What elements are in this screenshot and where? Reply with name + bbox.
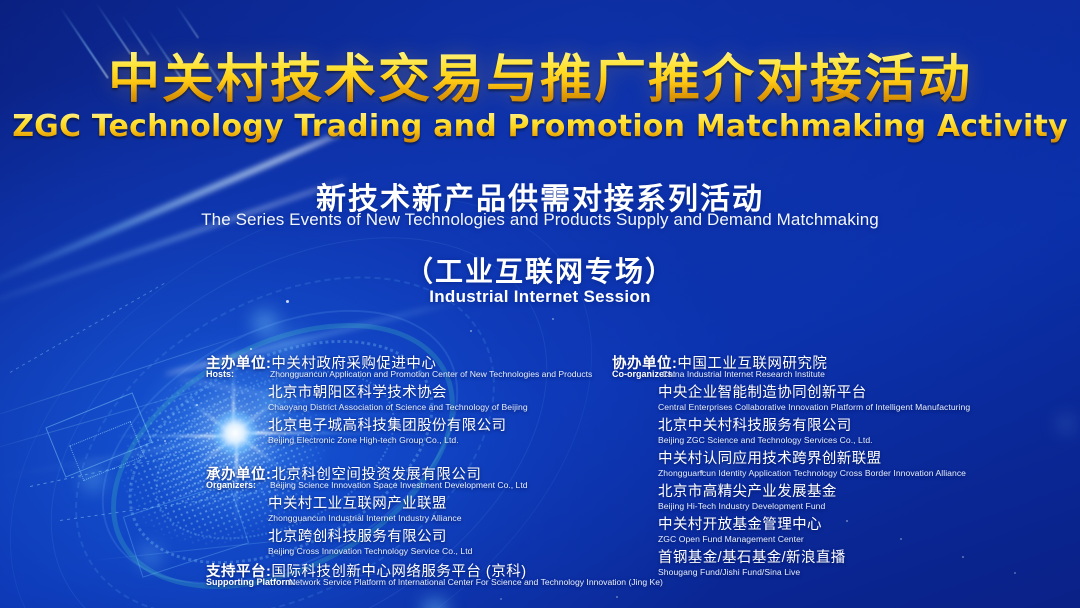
hosts-entry-2-cn: 北京电子城高科技集团股份有限公司 xyxy=(268,414,668,435)
credit-entry: 北京中关村科技服务有限公司 Beijing ZGC Science and Te… xyxy=(658,414,1078,445)
subtitle-en: The Series Events of New Technologies an… xyxy=(0,210,1080,230)
hosts-label-en: Hosts: xyxy=(206,369,234,379)
organizers-entry-1-en: Zhongguancun Industrial Internet Industr… xyxy=(268,513,668,523)
session-title-en: Industrial Internet Session xyxy=(0,287,1080,307)
hosts-entry-0-en: Zhongguancun Application and Promotion C… xyxy=(270,369,592,379)
hosts-entry-1-en: Chaoyang District Association of Science… xyxy=(268,402,668,412)
meteor-streak-icon xyxy=(175,4,199,38)
hosts-entry-2-en: Beijing Electronic Zone High-tech Group … xyxy=(268,435,668,445)
sparkle-dot xyxy=(552,318,554,320)
credits-group-hosts: 主办单位:中关村政府采购促进中心 Hosts: Zhongguancun App… xyxy=(206,352,606,448)
credits-group-supporting-platform: 支持平台:国际科技创新中心网络服务平台 (京科) Supporting Plat… xyxy=(206,560,606,600)
hosts-entry-1-cn: 北京市朝阳区科学技术协会 xyxy=(268,381,668,402)
organizers-entry-2-cn: 北京跨创科技服务有限公司 xyxy=(268,525,668,546)
title-block: 中关村技术交易与推广推介对接活动 ZGC Technology Trading … xyxy=(0,52,1080,144)
organizers-entry-2-en: Beijing Cross Innovation Technology Serv… xyxy=(268,546,668,556)
co-organizers-entry-1-en: Central Enterprises Collaborative Innova… xyxy=(658,402,1078,412)
credit-entry: 中央企业智能制造协同创新平台 Central Enterprises Colla… xyxy=(658,381,1078,412)
co-organizers-entry-0-en: China Industrial Internet Research Insti… xyxy=(662,369,825,379)
credit-entry: 北京市高精尖产业发展基金 Beijing Hi-Tech Industry De… xyxy=(658,480,1078,511)
supporting-platform-entry-0-en: Network Service Platform of Internationa… xyxy=(289,577,663,587)
organizers-entry-0-en: Beijing Science Innovation Space Investm… xyxy=(270,480,528,490)
credits-block: 主办单位:中关村政府采购促进中心 Hosts: Zhongguancun App… xyxy=(0,352,1080,608)
organizers-entry-list: 中关村工业互联网产业联盟 Zhongguancun Industrial Int… xyxy=(206,491,668,558)
co-organizers-entry-5-cn: 中关村开放基金管理中心 xyxy=(658,513,1078,534)
co-organizers-entry-2-en: Beijing ZGC Science and Technology Servi… xyxy=(658,435,1078,445)
credit-entry: 中关村工业互联网产业联盟 Zhongguancun Industrial Int… xyxy=(268,492,668,523)
organizers-entry-1-cn: 中关村工业互联网产业联盟 xyxy=(268,492,668,513)
glow-spot xyxy=(254,312,276,334)
credit-entry: 中关村开放基金管理中心 ZGC Open Fund Management Cen… xyxy=(658,513,1078,544)
co-organizers-entry-5-en: ZGC Open Fund Management Center xyxy=(658,534,1078,544)
co-organizers-entry-3-en: Zhongguancun Identity Application Techno… xyxy=(658,468,1078,478)
hosts-entry-list: 北京市朝阳区科学技术协会 Chaoyang District Associati… xyxy=(206,380,668,447)
co-organizers-entry-2-cn: 北京中关村科技服务有限公司 xyxy=(658,414,1078,435)
supporting-platform-label-en: Supporting Platform: xyxy=(206,577,296,587)
sparkle-dot xyxy=(250,348,252,350)
co-organizers-entry-6-cn: 首钢基金/基石基金/新浪直播 xyxy=(658,546,1078,567)
credit-entry: 首钢基金/基石基金/新浪直播 Shougang Fund/Jishi Fund/… xyxy=(658,546,1078,577)
sparkle-dot xyxy=(470,330,472,332)
page-title-cn: 中关村技术交易与推广推介对接活动 xyxy=(0,52,1080,108)
co-organizers-entry-4-en: Beijing Hi-Tech Industry Development Fun… xyxy=(658,501,1078,511)
credit-entry: 北京跨创科技服务有限公司 Beijing Cross Innovation Te… xyxy=(268,525,668,556)
meteor-streak-icon xyxy=(95,2,131,55)
credits-group-organizers: 承办单位:北京科创空间投资发展有限公司 Organizers: Beijing … xyxy=(206,463,606,559)
co-organizers-entry-1-cn: 中央企业智能制造协同创新平台 xyxy=(658,381,1078,402)
co-organizers-entry-list: 中央企业智能制造协同创新平台 Central Enterprises Colla… xyxy=(612,380,1078,579)
event-poster: 中关村技术交易与推广推介对接活动 ZGC Technology Trading … xyxy=(0,0,1080,608)
credit-entry: 中关村认同应用技术跨界创新联盟 Zhongguancun Identity Ap… xyxy=(658,447,1078,478)
session-title-cn: （工业互联网专场） xyxy=(0,250,1080,290)
credit-entry: 北京电子城高科技集团股份有限公司 Beijing Electronic Zone… xyxy=(268,414,668,445)
page-title-en: ZGC Technology Trading and Promotion Mat… xyxy=(0,110,1080,144)
co-organizers-entry-4-cn: 北京市高精尖产业发展基金 xyxy=(658,480,1078,501)
co-organizers-entry-3-cn: 中关村认同应用技术跨界创新联盟 xyxy=(658,447,1078,468)
organizers-label-en: Organizers: xyxy=(206,480,256,490)
co-organizers-entry-6-en: Shougang Fund/Jishi Fund/Sina Live xyxy=(658,567,1078,577)
credit-entry: 北京市朝阳区科学技术协会 Chaoyang District Associati… xyxy=(268,381,668,412)
